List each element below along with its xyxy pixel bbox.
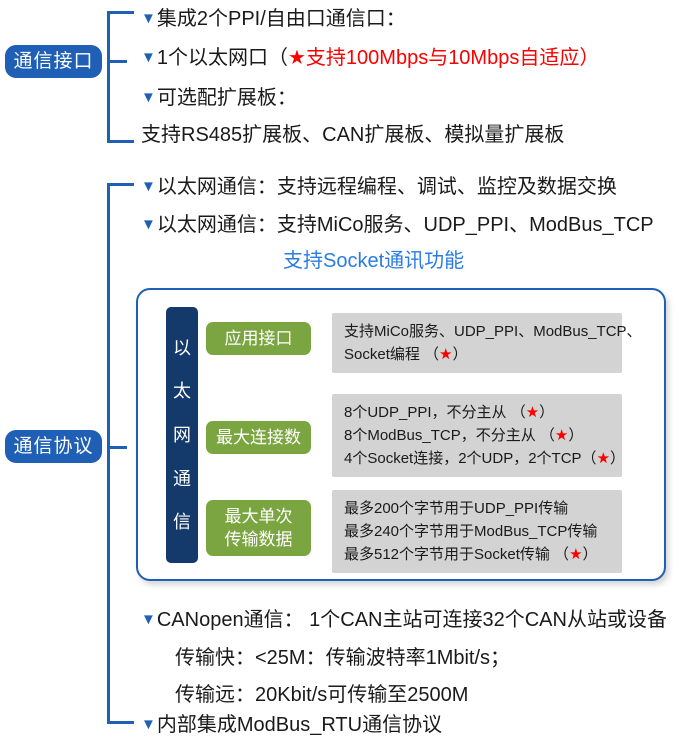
ethernet-spine-label: 以 太 网 通 信 <box>166 307 198 563</box>
interface-line-2-suffix: ） <box>579 47 599 69</box>
category-badge-protocol: 通信协议 <box>5 430 102 463</box>
row2-content-line-1: 8个UDP_PPI，不分主从 （★） <box>344 401 610 424</box>
star-icon: ★ <box>555 427 568 444</box>
protocol-line-1-text: 以太网通信：支持远程编程、调试、监控及数据交换 <box>157 176 617 198</box>
protocol-bottom-line-3: 传输远：20Kbit/s可传输至2500M <box>175 682 468 708</box>
row1-line2-suffix: ） <box>452 346 467 363</box>
row3-line3-prefix: 最多512个字节用于Socket传输 （ <box>344 546 569 563</box>
protocol-line-1: ▼以太网通信：支持远程编程、调试、监控及数据交换 <box>141 174 617 200</box>
row2-line3-prefix: 4个Socket连接，2个UDP，2个TCP（ <box>344 450 597 467</box>
bracket-interface <box>107 11 134 143</box>
row1-line2-prefix: Socket编程 （ <box>344 346 439 363</box>
row1-content-line-1: 支持MiCo服务、UDP_PPI、ModBus_TCP、 <box>344 320 610 343</box>
star-icon: ★ <box>526 404 539 421</box>
interface-line-4: 支持RS485扩展板、CAN扩展板、模拟量扩展板 <box>141 122 564 148</box>
bullet-triangle-icon: ▼ <box>141 716 156 733</box>
protocol-bottom-line-4: ▼内部集成ModBus_RTU通信协议 <box>141 712 442 738</box>
spine-char-3: 网 <box>173 426 191 444</box>
protocol-bottom-line-4-text: 内部集成ModBus_RTU通信协议 <box>157 714 442 736</box>
row-content-application-interface: 支持MiCo服务、UDP_PPI、ModBus_TCP、 Socket编程 （★… <box>332 313 622 373</box>
row-content-max-single-transfer: 最多200个字节用于UDP_PPI传输 最多240个字节用于ModBus_TCP… <box>332 490 622 573</box>
protocol-line-2: ▼以太网通信：支持MiCo服务、UDP_PPI、ModBus_TCP <box>141 212 654 238</box>
row3-label-line-2: 传输数据 <box>206 528 311 551</box>
row2-line3-suffix: ） <box>610 450 625 467</box>
protocol-bottom-line-3-text: 传输远：20Kbit/s可传输至2500M <box>175 684 468 706</box>
star-icon: ★ <box>597 450 610 467</box>
protocol-bottom-line-2: 传输快：<25M：传输波特率1Mbit/s； <box>175 645 510 671</box>
category-badge-interface: 通信接口 <box>5 45 102 78</box>
protocol-bottom-line-1-text: CANopen通信： 1个CAN主站可连接32个CAN从站或设备 <box>157 609 667 631</box>
interface-line-4-text: 支持RS485扩展板、CAN扩展板、模拟量扩展板 <box>141 124 564 146</box>
bracket-stub-interface <box>107 60 127 63</box>
interface-line-3-text: 可选配扩展板： <box>157 87 297 109</box>
interface-line-2: ▼1个以太网口（★支持100Mbps与10Mbps自适应） <box>141 45 599 71</box>
row2-line2-suffix: ） <box>568 427 583 444</box>
protocol-bottom-line-1: ▼CANopen通信： 1个CAN主站可连接32个CAN从站或设备 <box>141 607 667 633</box>
bullet-triangle-icon: ▼ <box>141 178 156 195</box>
row-label-max-single-transfer: 最大单次 传输数据 <box>206 500 311 556</box>
bracket-protocol <box>107 183 134 724</box>
interface-line-1-text: 集成2个PPI/自由口通信口： <box>157 8 406 30</box>
row2-content-line-3: 4个Socket连接，2个UDP，2个TCP（★） <box>344 447 610 470</box>
row1-content-line-2: Socket编程 （★） <box>344 343 610 366</box>
row3-label-line-1: 最大单次 <box>206 505 311 528</box>
bullet-triangle-icon: ▼ <box>141 49 156 66</box>
row3-content-line-1: 最多200个字节用于UDP_PPI传输 <box>344 497 610 520</box>
row-label-max-connections: 最大连接数 <box>206 421 311 454</box>
row-label-application-interface: 应用接口 <box>206 322 311 355</box>
protocol-line-3: 支持Socket通讯功能 <box>283 248 464 274</box>
star-icon: ★ <box>439 346 452 363</box>
bullet-triangle-icon: ▼ <box>141 89 156 106</box>
interface-line-1: ▼集成2个PPI/自由口通信口： <box>141 6 406 32</box>
row3-content-line-3: 最多512个字节用于Socket传输 （★） <box>344 543 610 566</box>
spine-char-5: 信 <box>173 513 191 531</box>
bracket-stub-protocol <box>107 446 127 449</box>
spine-char-1: 以 <box>173 339 191 357</box>
row3-line3-suffix: ） <box>583 546 598 563</box>
star-icon: ★ <box>569 546 582 563</box>
bullet-triangle-icon: ▼ <box>141 216 156 233</box>
spine-char-4: 通 <box>173 470 191 488</box>
bullet-triangle-icon: ▼ <box>141 611 156 628</box>
protocol-bottom-line-2-text: 传输快：<25M：传输波特率1Mbit/s； <box>175 647 510 669</box>
row2-line2-prefix: 8个ModBus_TCP，不分主从 （ <box>344 427 555 444</box>
interface-line-3: ▼可选配扩展板： <box>141 85 297 111</box>
protocol-line-2-text: 以太网通信：支持MiCo服务、UDP_PPI、ModBus_TCP <box>157 214 654 236</box>
row3-content-line-2: 最多240个字节用于ModBus_TCP传输 <box>344 520 610 543</box>
bullet-triangle-icon: ▼ <box>141 10 156 27</box>
row2-line1-prefix: 8个UDP_PPI，不分主从 （ <box>344 404 526 421</box>
protocol-line-3-text: 支持Socket通讯功能 <box>283 250 464 272</box>
row2-content-line-2: 8个ModBus_TCP，不分主从 （★） <box>344 424 610 447</box>
diagram-canvas: 通信接口 通信协议 ▼集成2个PPI/自由口通信口： ▼1个以太网口（★支持10… <box>0 0 692 743</box>
row-content-max-connections: 8个UDP_PPI，不分主从 （★） 8个ModBus_TCP，不分主从 （★）… <box>332 394 622 477</box>
interface-line-2-prefix: 1个以太网口（ <box>157 47 288 69</box>
interface-line-2-highlight: ★支持100Mbps与10Mbps自适应 <box>288 47 579 69</box>
row2-line1-suffix: ） <box>539 404 554 421</box>
spine-char-2: 太 <box>173 382 191 400</box>
